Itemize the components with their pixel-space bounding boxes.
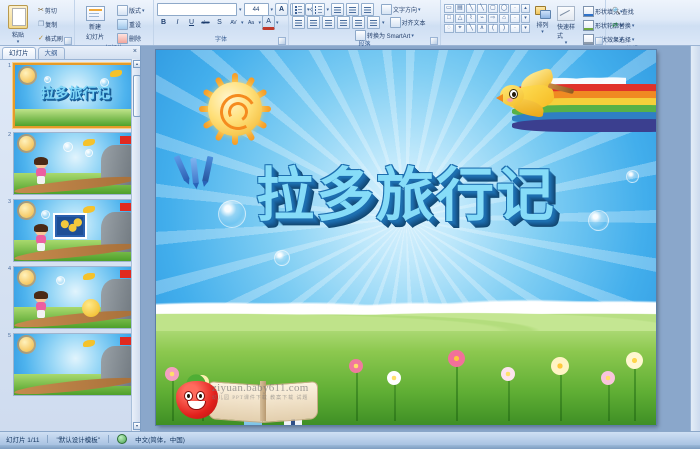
shape-triangle-icon[interactable]: △ — [455, 14, 465, 23]
shape-rounded-rect-icon[interactable]: ▢ — [488, 4, 498, 13]
shape-arrow-right-icon[interactable]: ⇨ — [488, 14, 498, 23]
delete-slide-button[interactable]: 删除 — [114, 32, 148, 45]
watermark: ziyuan.baby611.com 幼儿园 PPT课件下载 教案下载 试题 — [212, 382, 309, 401]
thumbnail-art — [14, 200, 137, 261]
font-size-value: 44 — [253, 7, 260, 13]
paste-label: 粘贴 — [12, 30, 24, 39]
shape-arrow-icon[interactable]: ╲ — [477, 4, 487, 13]
delete-label: 删除 — [129, 34, 141, 43]
slides-pane: 幻灯片 大纲 × 1 拉 — [0, 46, 141, 431]
thumbnail-art — [14, 267, 137, 328]
character-spacing-button[interactable]: AV — [227, 16, 240, 29]
chevron-down-icon[interactable]: ▾ — [327, 7, 330, 13]
new-slide-label-1: 新建 — [89, 22, 101, 31]
chevron-down-icon[interactable]: ▾ — [239, 7, 242, 13]
status-bar: 幻灯片 1/11 "默认设计模板" 中文(简体，中国) — [0, 431, 700, 445]
slide-title-placeholder[interactable]: 拉多旅行记 — [156, 166, 656, 224]
format-painter-button[interactable]: ✓ 格式刷 — [35, 32, 66, 45]
thumbnail-preview[interactable]: 拉多旅行记 — [13, 63, 138, 128]
change-case-button[interactable]: Aa — [245, 16, 258, 29]
gallery-more-icon[interactable]: ▾ — [521, 24, 530, 33]
scissors-icon: ✂ — [38, 7, 44, 14]
reset-label: 重设 — [129, 20, 141, 29]
thumbnail-number: 4 — [2, 266, 13, 273]
shape-connector-icon[interactable]: ╲ — [466, 24, 476, 33]
bubble-decoration — [274, 250, 290, 266]
drawing-dialog-launcher[interactable] — [595, 37, 603, 45]
chevron-down-icon[interactable]: ▾ — [411, 33, 414, 39]
shape-more-row3-icon[interactable]: · — [510, 24, 520, 33]
format-painter-icon: ✓ — [38, 35, 44, 42]
shape-square-icon[interactable]: □ — [444, 14, 454, 23]
font-color-button[interactable]: A — [262, 15, 275, 30]
scroll-up-icon[interactable]: ▴ — [133, 60, 141, 68]
flower-icon — [349, 359, 363, 373]
paragraph-dialog-launcher[interactable] — [430, 37, 438, 45]
slide-counter: 幻灯片 1/11 — [6, 434, 39, 444]
thumbnail-number: 1 — [2, 63, 13, 70]
chevron-down-icon[interactable]: ▾ — [142, 8, 145, 14]
shape-more-row2-icon[interactable]: · — [510, 14, 520, 23]
shapes-gallery[interactable]: ▭ ▤ ╲ ╲ ▢ ◯ · □ △ ⌇ ⌁ ⇨ ⌂ · ◌ — [444, 4, 520, 33]
grow-font-button[interactable]: A — [275, 3, 288, 16]
strikethrough-button[interactable]: abe — [199, 16, 212, 29]
sun-graphic — [198, 72, 272, 146]
cut-button[interactable]: ✂ 剪切 — [35, 4, 66, 17]
align-right-icon[interactable] — [322, 16, 335, 29]
arrange-icon — [535, 6, 550, 19]
page-title: 拉多旅行记 — [256, 166, 556, 224]
status-divider — [108, 435, 109, 443]
copy-button[interactable]: ❐ 复制 — [35, 18, 66, 31]
copy-icon: ❐ — [38, 21, 44, 28]
ribbon-group-editing: 🔍 查找 ⇄ 替换 ▾ ⊹ 选择 ▾ 编辑 — [606, 0, 658, 45]
chevron-down-icon[interactable]: ▾ — [271, 7, 274, 13]
flower-icon — [501, 367, 515, 381]
spellcheck-icon[interactable] — [117, 434, 127, 444]
language-indicator[interactable]: 中文(简体，中国) — [135, 434, 185, 444]
thumbnail-number: 5 — [2, 333, 13, 340]
text-direction-button[interactable]: 文字方向 ▾ — [378, 3, 424, 16]
reset-icon — [117, 19, 128, 30]
chevron-down-icon[interactable]: ▾ — [632, 23, 635, 29]
new-slide-label-2: 幻灯片 — [86, 32, 104, 41]
shape-rect-icon[interactable]: ▭ — [444, 4, 454, 13]
ribbon-group-clipboard: 粘贴 ▾ ✂ 剪切 ❐ 复制 ✓ 格式刷 — [0, 0, 75, 45]
group-label-font: 字体 — [157, 36, 285, 45]
shape-more-row1-icon[interactable]: · — [510, 4, 520, 13]
scroll-down-icon[interactable]: ▾ — [133, 422, 141, 430]
text-direction-label: 文字方向 — [393, 5, 417, 14]
thumbnail-preview[interactable] — [13, 333, 138, 396]
shape-scribble-icon[interactable]: ⌖ — [455, 24, 465, 33]
thumbnail-item[interactable]: 1 拉多旅行记 — [0, 63, 140, 132]
flower-icon — [551, 357, 569, 375]
align-text-icon — [390, 17, 401, 28]
replace-icon: ⇄ — [612, 22, 618, 29]
shapes-gallery-scroll[interactable]: ▴ ▾ ▾ — [521, 4, 530, 33]
thumbnail-art: 拉多旅行记 — [15, 65, 136, 126]
format-painter-label: 格式刷 — [45, 34, 63, 43]
thumbnail-number: 2 — [2, 132, 13, 139]
arrange-button[interactable]: 排列 ▾ — [533, 4, 552, 37]
italic-button[interactable]: I — [171, 16, 184, 29]
find-icon: 🔍 — [612, 8, 621, 15]
clipboard-dialog-launcher[interactable] — [64, 37, 72, 45]
shape-curve-icon[interactable]: ⌇ — [466, 14, 476, 23]
thumbnail-preview[interactable] — [13, 199, 138, 262]
grow-font-label: A — [279, 6, 284, 13]
justify-icon[interactable] — [337, 16, 350, 29]
bold-button[interactable]: B — [157, 16, 170, 29]
flower-icon — [626, 352, 643, 369]
shape-brace-left-icon[interactable]: ( — [488, 24, 498, 33]
underline-button[interactable]: U — [185, 16, 198, 29]
shape-oval-icon[interactable]: ◯ — [499, 4, 509, 13]
select-label: 选择 — [619, 35, 631, 44]
thumbnail-title: 拉多旅行记 — [15, 83, 136, 103]
replace-button[interactable]: ⇄ 替换 ▾ — [609, 19, 637, 32]
chevron-down-icon[interactable]: ▾ — [418, 7, 421, 13]
gallery-scroll-down-icon[interactable]: ▾ — [521, 14, 530, 23]
new-slide-button[interactable]: 新建 幻灯片 — [78, 4, 112, 43]
gallery-scroll-up-icon[interactable]: ▴ — [521, 4, 530, 13]
shape-textbox-icon[interactable]: ▤ — [455, 4, 465, 13]
thumbnail-number: 3 — [2, 199, 13, 206]
chevron-down-icon[interactable]: ▾ — [382, 20, 385, 26]
chevron-down-icon[interactable]: ▾ — [17, 39, 20, 45]
thumbnail-item[interactable]: 4 — [0, 266, 140, 333]
shape-effects-icon — [583, 34, 594, 45]
chevron-down-icon[interactable]: ▾ — [632, 37, 635, 43]
smartart-label: 转换为 SmartArt — [367, 31, 410, 40]
current-slide[interactable]: 拉多旅行记 — [156, 50, 656, 425]
paste-icon — [8, 5, 28, 29]
font-dialog-launcher[interactable] — [278, 37, 286, 45]
font-name-input[interactable] — [157, 3, 237, 16]
layout-button[interactable]: 版式 ▾ — [114, 4, 148, 17]
shape-fill-icon — [583, 6, 594, 17]
align-center-icon[interactable] — [307, 16, 320, 29]
shape-angle-icon[interactable]: ∧ — [477, 24, 487, 33]
ribbon-group-paragraph: ▾ ▾ 文字方向 ▾ — [289, 0, 441, 45]
quick-styles-label: 快速样式 — [557, 22, 575, 40]
pane-scroll-thumb[interactable] — [133, 75, 141, 117]
copy-label: 复制 — [45, 20, 57, 29]
slide-editing-area[interactable]: 拉多旅行记 — [141, 46, 700, 431]
smartart-icon — [355, 30, 366, 41]
ribbon-group-slides: 新建 幻灯片 版式 ▾ 重设 删除 — [75, 0, 154, 45]
columns-icon[interactable] — [367, 16, 380, 29]
layout-icon — [117, 5, 128, 16]
cut-label: 剪切 — [45, 6, 57, 15]
select-icon: ⊹ — [612, 36, 618, 43]
quick-styles-icon — [557, 6, 575, 21]
thumbnail-art — [14, 133, 137, 194]
meadow-graphic — [156, 317, 656, 425]
flower-icon — [601, 371, 615, 385]
replace-label: 替换 — [619, 21, 631, 30]
thumbnail-item[interactable]: 5 — [0, 333, 140, 400]
align-left-icon[interactable] — [292, 16, 305, 29]
shape-brace-right-icon[interactable]: ) — [499, 24, 509, 33]
distribute-icon[interactable] — [352, 16, 365, 29]
chevron-down-icon[interactable]: ▾ — [276, 20, 279, 26]
align-text-label: 对齐文本 — [402, 18, 426, 27]
arrange-label: 排列 — [536, 20, 548, 29]
quick-styles-button[interactable]: 快速样式 ▾ — [555, 4, 577, 48]
decrease-indent-icon[interactable] — [331, 3, 344, 16]
text-shadow-button[interactable]: S — [213, 16, 226, 29]
shape-freeform-icon[interactable]: ⌁ — [477, 14, 487, 23]
thumbnail-list[interactable]: 1 拉多旅行记 2 — [0, 60, 140, 431]
pane-tabs: 幻灯片 大纲 × — [0, 46, 140, 60]
text-direction-icon — [381, 4, 392, 15]
select-button[interactable]: ⊹ 选择 ▾ — [609, 33, 637, 46]
increase-indent-icon[interactable] — [346, 3, 359, 16]
workspace: 幻灯片 大纲 × 1 拉 — [0, 46, 700, 431]
ribbon-home-tab: 粘贴 ▾ ✂ 剪切 ❐ 复制 ✓ 格式刷 — [0, 0, 700, 46]
shape-cloud-icon[interactable]: ◌ — [444, 24, 454, 33]
flower-icon — [448, 350, 465, 367]
thumbnail-preview[interactable] — [13, 266, 138, 329]
line-spacing-icon[interactable] — [361, 3, 374, 16]
shape-chevron-icon[interactable]: ⌂ — [499, 14, 509, 23]
find-button[interactable]: 🔍 查找 — [609, 5, 637, 18]
new-slide-icon — [86, 6, 105, 21]
thumbnail-preview[interactable] — [13, 132, 138, 195]
chevron-down-icon[interactable]: ▾ — [259, 20, 262, 26]
bird-icon — [500, 74, 572, 120]
watermark-subtext: 幼儿园 PPT课件下载 教案下载 试题 — [212, 394, 309, 401]
powerpoint-window: 粘贴 ▾ ✂ 剪切 ❐ 复制 ✓ 格式刷 — [0, 0, 700, 449]
delete-icon — [117, 33, 128, 44]
thumbnail-item[interactable]: 3 — [0, 199, 140, 266]
window-bottom-edge — [0, 445, 700, 449]
numbering-icon[interactable] — [312, 3, 325, 16]
layout-label: 版式 — [129, 6, 141, 15]
chevron-down-icon[interactable]: ▾ — [241, 20, 244, 26]
shape-outline-icon — [583, 20, 594, 31]
pane-scrollbar[interactable]: ▴ ▾ — [131, 59, 140, 431]
align-text-button[interactable]: 对齐文本 — [387, 16, 429, 29]
flower-icon — [387, 371, 401, 385]
thumbnail-art — [14, 334, 137, 395]
design-template-name: "默认设计模板" — [56, 434, 100, 444]
chevron-down-icon[interactable]: ▾ — [541, 29, 544, 35]
stage-scrollbar[interactable] — [690, 46, 700, 431]
watermark-url: ziyuan.baby611.com — [212, 382, 309, 394]
tab-slides[interactable]: 幻灯片 — [2, 47, 36, 59]
find-label: 查找 — [622, 7, 634, 16]
tab-outline[interactable]: 大纲 — [38, 47, 65, 59]
shape-line-icon[interactable]: ╲ — [466, 4, 476, 13]
thumbnail-item[interactable]: 2 — [0, 132, 140, 199]
status-divider — [47, 435, 48, 443]
reset-button[interactable]: 重设 — [114, 18, 148, 31]
chevron-down-icon[interactable]: ▾ — [307, 7, 310, 13]
ribbon-group-drawing: ▭ ▤ ╲ ╲ ▢ ◯ · □ △ ⌇ ⌁ ⇨ ⌂ · ◌ — [441, 0, 606, 45]
bullets-icon[interactable] — [292, 3, 305, 16]
close-pane-icon[interactable]: × — [133, 48, 137, 56]
paste-button[interactable]: 粘贴 ▾ — [3, 3, 33, 47]
ribbon-group-font: ▾ 44 ▾ A A ✧ B I U abe S AV ▾ — [154, 0, 289, 45]
